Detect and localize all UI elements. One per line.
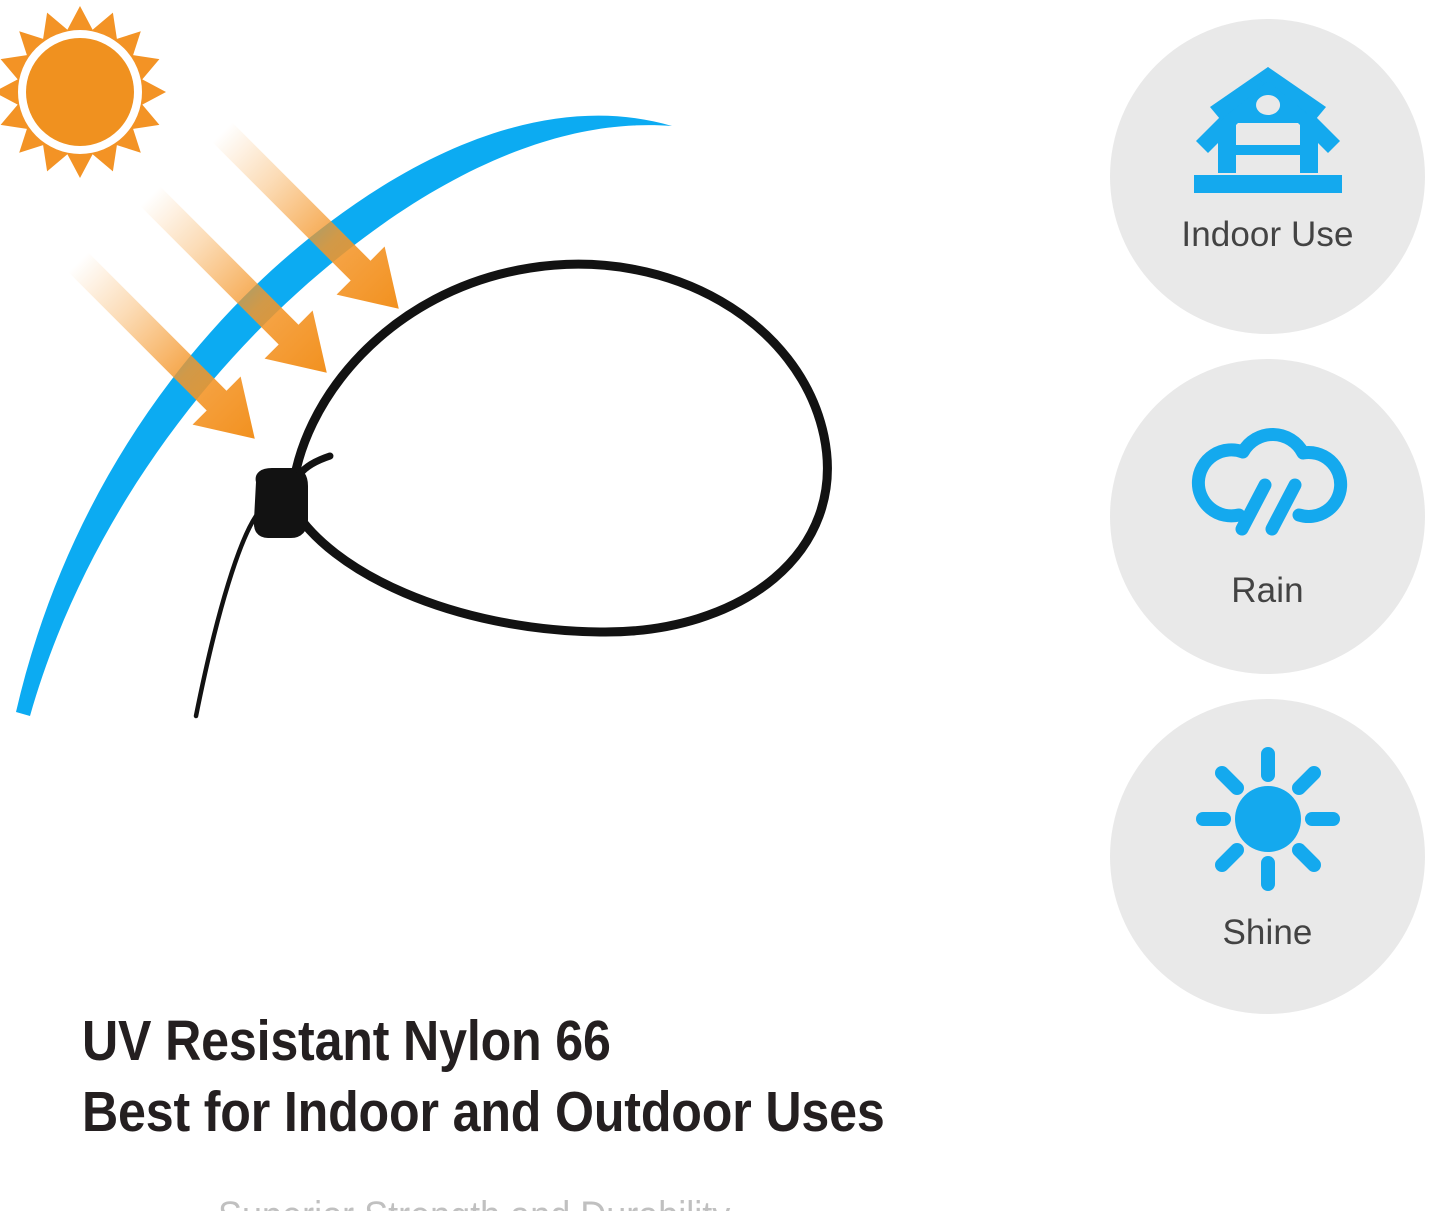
sun-burst-icon [0,6,166,178]
clipped-next-line-text: Superior Strength and Durability [218,1196,1028,1211]
uv-shield-arc [16,116,672,716]
uv-sun-exposure-cable-tie-illustration [0,0,1060,1000]
feature-badge-list: Indoor Use Rain [1110,0,1432,1020]
headline-line-2: Best for Indoor and Outdoor Uses [82,1077,962,1148]
sun-shine-icon [1188,749,1348,889]
badge-label-shine: Shine [1222,915,1312,950]
badge-rain[interactable]: Rain [1110,359,1425,674]
badge-label-rain: Rain [1231,573,1303,608]
headline-block: UV Resistant Nylon 66 Best for Indoor an… [82,1006,1082,1147]
clipped-next-line: Superior Strength and Durability [218,1196,1118,1211]
infographic-canvas: Indoor Use Rain [0,0,1432,1211]
rain-cloud-icon [1188,407,1348,547]
headline-line-1: UV Resistant Nylon 66 [82,1006,962,1077]
badge-indoor-use[interactable]: Indoor Use [1110,19,1425,334]
house-icon [1188,61,1348,201]
badge-shine[interactable]: Shine [1110,699,1425,1014]
badge-label-indoor-use: Indoor Use [1181,217,1353,252]
